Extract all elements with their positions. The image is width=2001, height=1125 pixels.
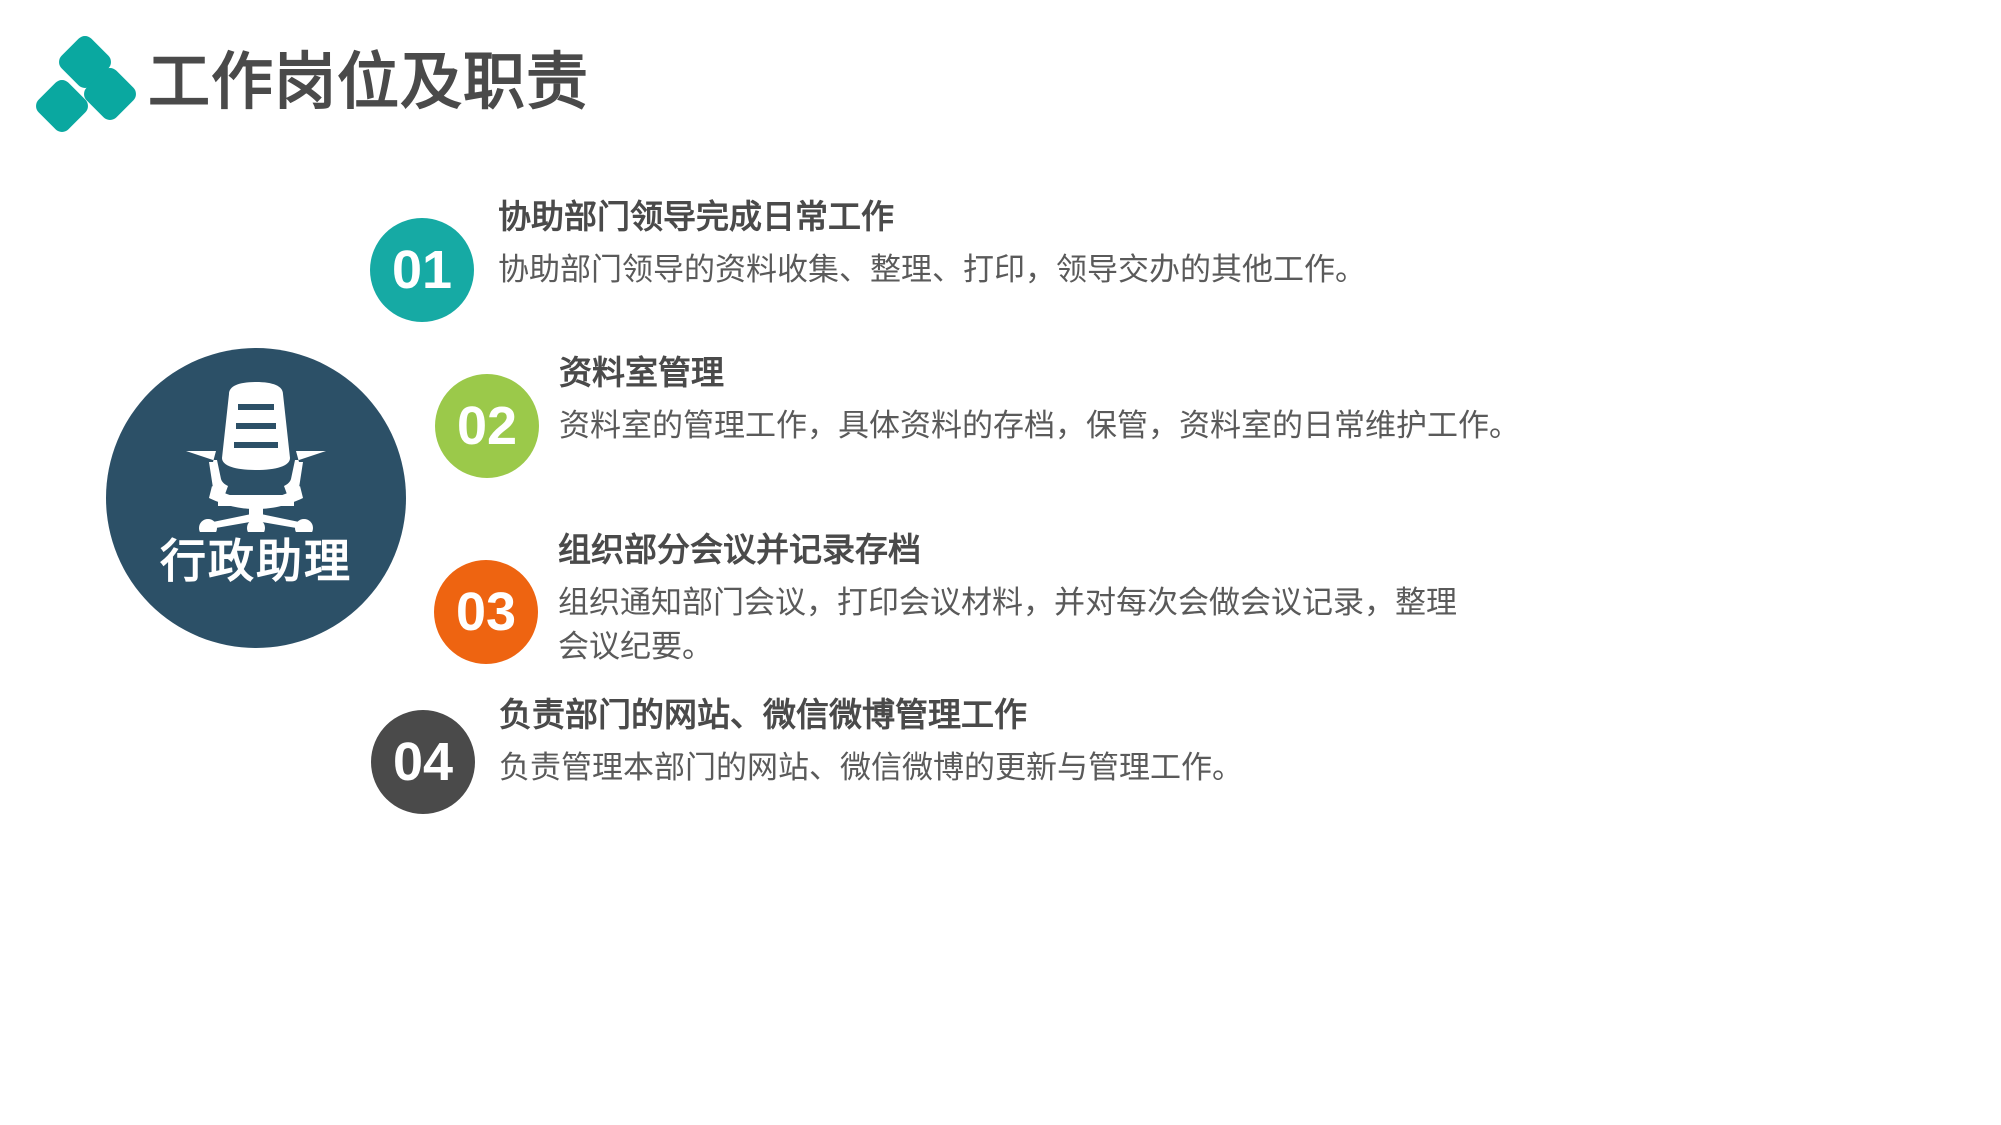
item-description: 组织通知部门会议，打印会议材料，并对每次会做会议记录，整理 会议纪要。 [558, 581, 1457, 669]
item-text-block: 组织部分会议并记录存档 组织通知部门会议，打印会议材料，并对每次会做会议记录，整… [558, 527, 1457, 669]
item-description: 负责管理本部门的网站、微信微博的更新与管理工作。 [499, 746, 1243, 790]
responsibility-item-04: 04 负责部门的网站、微信微博管理工作 负责管理本部门的网站、微信微博的更新与管… [371, 692, 1243, 814]
page-title: 工作岗位及职责 [148, 52, 589, 114]
item-text-block: 资料室管理 资料室的管理工作，具体资料的存档，保管，资料室的日常维护工作。 [559, 350, 1520, 448]
responsibility-item-02: 02 资料室管理 资料室的管理工作，具体资料的存档，保管，资料室的日常维护工作。 [435, 350, 1520, 478]
item-text-block: 协助部门领导完成日常工作 协助部门领导的资料收集、整理、打印，领导交办的其他工作… [498, 196, 1366, 292]
role-circle: 行政助理 [106, 348, 406, 648]
item-title: 协助部门领导完成日常工作 [498, 196, 1366, 237]
item-description: 资料室的管理工作，具体资料的存档，保管，资料室的日常维护工作。 [559, 404, 1520, 448]
slide-header: 工作岗位及职责 [38, 28, 589, 138]
item-number-badge: 03 [434, 560, 538, 664]
item-title: 组织部分会议并记录存档 [558, 529, 1457, 570]
item-title: 资料室管理 [559, 352, 1520, 393]
responsibility-item-01: 01 协助部门领导完成日常工作 协助部门领导的资料收集、整理、打印，领导交办的其… [370, 196, 1366, 322]
responsibility-item-03: 03 组织部分会议并记录存档 组织通知部门会议，打印会议材料，并对每次会做会议记… [434, 527, 1457, 669]
item-text-block: 负责部门的网站、微信微博管理工作 负责管理本部门的网站、微信微博的更新与管理工作… [499, 692, 1243, 790]
diamond-logo-icon [38, 35, 130, 131]
office-chair-icon [182, 382, 330, 532]
slide-canvas: 工作岗位及职责 行政助理 [0, 0, 2001, 1125]
role-label: 行政助理 [160, 538, 352, 584]
item-number-badge: 01 [370, 218, 474, 322]
item-number-badge: 04 [371, 710, 475, 814]
item-title: 负责部门的网站、微信微博管理工作 [499, 694, 1243, 735]
item-number-badge: 02 [435, 374, 539, 478]
item-description: 协助部门领导的资料收集、整理、打印，领导交办的其他工作。 [498, 248, 1366, 292]
